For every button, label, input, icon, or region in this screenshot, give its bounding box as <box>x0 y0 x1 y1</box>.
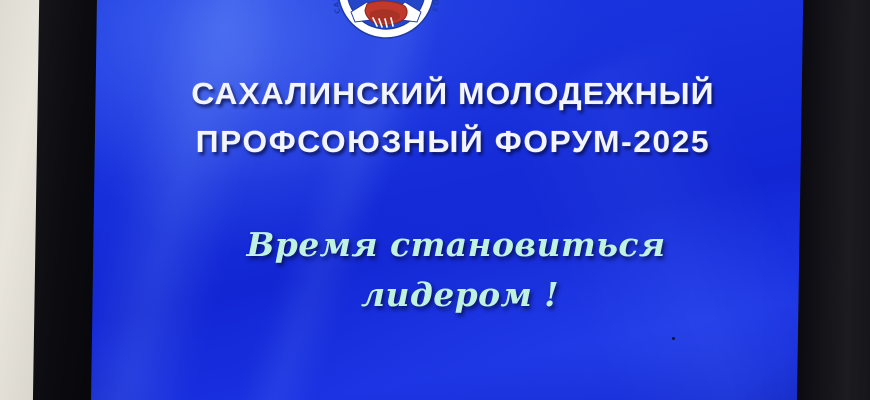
headline-line-2: ПРОФСОЮЗНЫЙ ФОРУМ-2025 <box>91 118 815 166</box>
slogan-line-1: Время становиться <box>94 220 812 270</box>
slide-slogan: Время становиться лидером ! <box>94 220 812 320</box>
organization-logo: САХАЛИНСКИЙ ПРОФСОЮЗОВ <box>327 0 445 56</box>
slogan-line-2: лидером ! <box>94 270 812 320</box>
slide-headline: САХАЛИНСКИЙ МОЛОДЕЖНЫЙ ПРОФСОЮЗНЫЙ ФОРУМ… <box>91 70 815 166</box>
dust-speck <box>672 337 675 340</box>
screen-bezel-right <box>797 0 870 400</box>
slide-content: САХАЛИНСКИЙ ПРОФСОЮЗОВ САХАЛИНСКИЙ МОЛОД… <box>94 0 812 400</box>
photo-frame: САХАЛИНСКИЙ ПРОФСОЮЗОВ САХАЛИНСКИЙ МОЛОД… <box>0 0 870 400</box>
headline-line-1: САХАЛИНСКИЙ МОЛОДЕЖНЫЙ <box>91 70 815 118</box>
presentation-screen: САХАЛИНСКИЙ ПРОФСОЮЗОВ САХАЛИНСКИЙ МОЛОД… <box>91 0 815 400</box>
